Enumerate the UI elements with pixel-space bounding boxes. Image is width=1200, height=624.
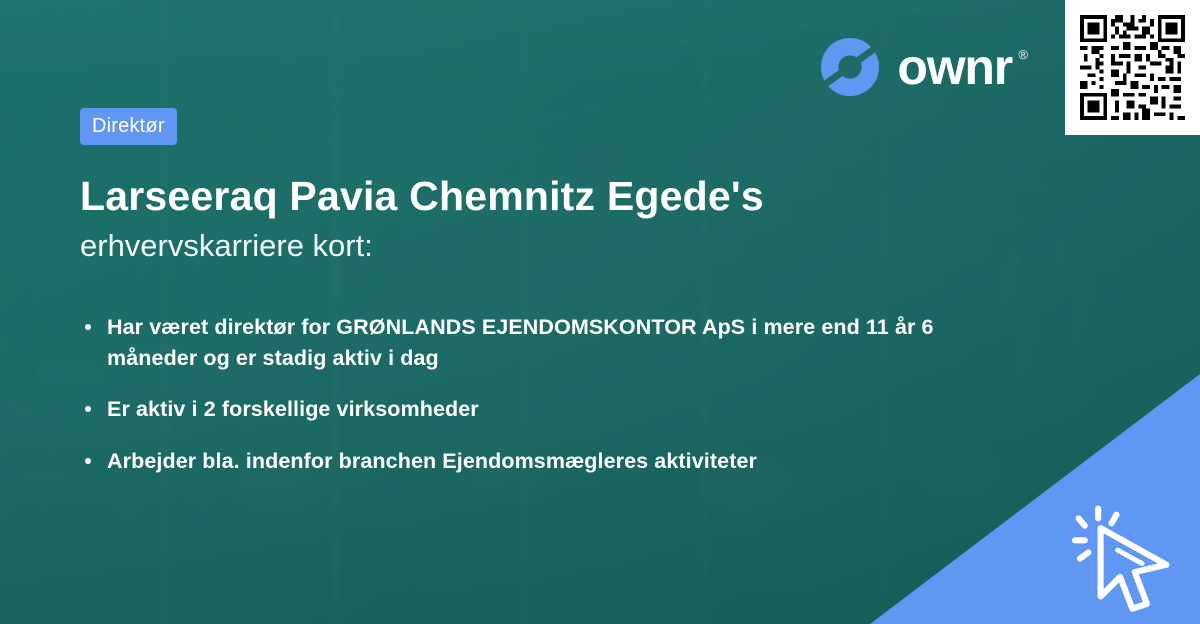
ownr-logo[interactable]: ownr ®: [819, 36, 1028, 98]
bullet-dot-icon: [85, 458, 91, 464]
list-item-text: Er aktiv i 2 forskellige virksomheder: [107, 397, 479, 421]
ownr-swirl-icon: [819, 36, 881, 98]
qr-code-panel[interactable]: [1065, 0, 1200, 135]
list-item: Er aktiv i 2 forskellige virksomheder: [80, 394, 987, 425]
career-summary-card: ownr ®: [0, 0, 1200, 624]
registered-trademark-symbol: ®: [1018, 48, 1028, 61]
bullet-dot-icon: [85, 324, 91, 330]
ownr-wordmark-text: ownr: [897, 39, 1012, 95]
list-item-text: Har været direktør for GRØNLANDS EJENDOM…: [107, 315, 934, 370]
bullet-dot-icon: [85, 406, 91, 412]
list-item: Arbejder bla. indenfor branchen Ejendoms…: [80, 446, 987, 477]
ownr-wordmark: ownr ®: [897, 42, 1028, 92]
qr-code-icon: [1076, 11, 1189, 124]
career-facts-list: Har været direktør for GRØNLANDS EJENDOM…: [80, 312, 1040, 476]
click-cursor-icon: [1064, 494, 1186, 616]
role-badge: Direktør: [80, 108, 177, 145]
list-item-text: Arbejder bla. indenfor branchen Ejendoms…: [107, 449, 757, 473]
headline-block: Direktør Larseeraq Pavia Chemnitz Egede'…: [80, 108, 1000, 263]
list-item: Har været direktør for GRØNLANDS EJENDOM…: [80, 312, 987, 373]
page-subtitle: erhvervskarriere kort:: [80, 229, 1000, 263]
page-title: Larseeraq Pavia Chemnitz Egede's: [80, 174, 1000, 218]
